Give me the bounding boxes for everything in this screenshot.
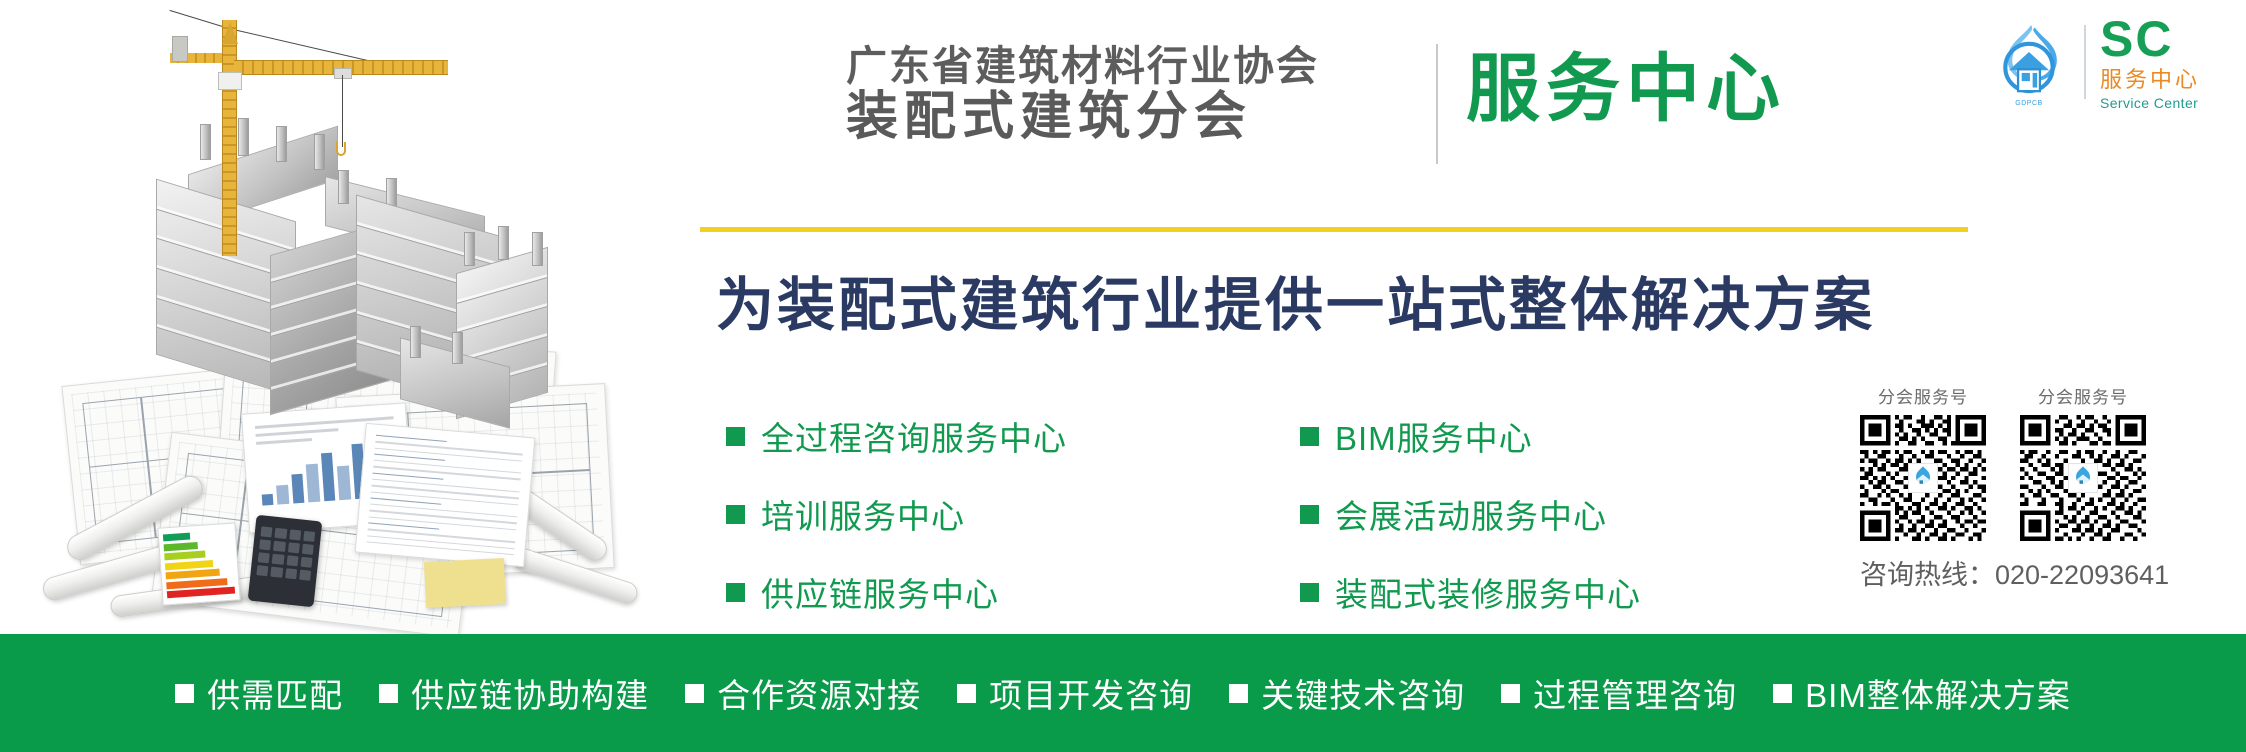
construction-illustration	[0, 0, 660, 634]
list-item[interactable]: 关键技术咨询	[1229, 669, 1465, 717]
service-label: 供应链服务中心	[761, 568, 999, 616]
yellow-divider-rule	[700, 227, 1968, 232]
building-column	[452, 332, 463, 364]
service-list-right: BIM服务中心 会展活动服务中心 装配式装修服务中心	[1300, 412, 1641, 616]
list-item[interactable]: 过程管理咨询	[1501, 669, 1737, 717]
qr-code-image-2[interactable]	[2020, 415, 2146, 541]
association-name: 广东省建筑材料行业协会	[846, 44, 1446, 88]
service-label: 装配式装修服务中心	[1335, 568, 1641, 616]
footer-label: 合作资源对接	[717, 669, 921, 717]
energy-label-chart	[157, 522, 240, 605]
bullet-square-icon	[379, 684, 398, 703]
gdpcb-abbr-label: GDPCB	[1988, 100, 2070, 107]
building-column	[410, 326, 421, 358]
building-column	[532, 232, 543, 266]
sc-service-center-logo[interactable]: GDPCB SC 服务中心 Service Center	[1988, 14, 2200, 110]
list-item[interactable]: 供应链协助构建	[379, 669, 649, 717]
promotional-banner: 广东省建筑材料行业协会 装配式建筑分会 服务中心 为装配式建筑行业提供一站式整体…	[0, 0, 2246, 752]
qr-caption: 分会服务号	[1860, 383, 1986, 408]
list-item[interactable]: BIM整体解决方案	[1773, 669, 2071, 717]
footer-label: 供需匹配	[207, 669, 343, 717]
list-item[interactable]: 装配式装修服务中心	[1300, 568, 1641, 616]
list-item[interactable]: 培训服务中心	[726, 490, 1067, 538]
service-label: BIM服务中心	[1335, 412, 1533, 460]
qr-caption: 分会服务号	[2020, 383, 2146, 408]
logo-english-label: Service Center	[2100, 96, 2200, 110]
logo-divider	[2084, 25, 2086, 99]
list-item[interactable]: 供应链服务中心	[726, 568, 1067, 616]
qr-code-item: 分会服务号	[2020, 383, 2146, 541]
qr-code-image-1[interactable]	[1860, 415, 1986, 541]
footer-capability-bar: 供需匹配 供应链协助构建 合作资源对接 项目开发咨询 关键技术咨询 过程管理咨询…	[0, 634, 2246, 752]
building-column	[498, 226, 509, 260]
association-title-block: 广东省建筑材料行业协会 装配式建筑分会	[846, 44, 1446, 147]
service-label: 全过程咨询服务中心	[761, 412, 1067, 460]
sticky-note	[424, 558, 506, 608]
footer-label: 供应链协助构建	[411, 669, 649, 717]
title-divider	[1436, 44, 1438, 164]
list-item[interactable]: 全过程咨询服务中心	[726, 412, 1067, 460]
bullet-square-icon	[1229, 684, 1248, 703]
list-item[interactable]: 合作资源对接	[685, 669, 921, 717]
bullet-square-icon	[726, 583, 745, 602]
association-branch: 装配式建筑分会	[846, 88, 1446, 146]
list-item[interactable]: BIM服务中心	[1300, 412, 1641, 460]
tower-crane	[150, 6, 480, 256]
page-title: 为装配式建筑行业提供一站式整体解决方案	[716, 258, 1875, 342]
list-item[interactable]: 项目开发咨询	[957, 669, 1193, 717]
service-label: 会展活动服务中心	[1335, 490, 1607, 538]
qr-code-block: 分会服务号	[1860, 383, 2200, 592]
calculator	[248, 515, 323, 607]
bullet-square-icon	[175, 684, 194, 703]
hotline-text: 咨询热线：020-22093641	[1860, 553, 2200, 592]
service-list-left: 全过程咨询服务中心 培训服务中心 供应链服务中心	[726, 412, 1067, 616]
bullet-square-icon	[1300, 505, 1319, 524]
bullet-square-icon	[1501, 684, 1520, 703]
bullet-square-icon	[957, 684, 976, 703]
bullet-square-icon	[1773, 684, 1792, 703]
logo-chinese-label: 服务中心	[2100, 69, 2200, 91]
list-item[interactable]: 供需匹配	[175, 669, 343, 717]
footer-label: BIM整体解决方案	[1805, 669, 2071, 717]
qr-center-logo-icon	[2068, 463, 2098, 493]
service-label: 培训服务中心	[761, 490, 965, 538]
qr-code-item: 分会服务号	[1860, 383, 1986, 541]
footer-label: 项目开发咨询	[989, 669, 1193, 717]
footer-label: 关键技术咨询	[1261, 669, 1465, 717]
bullet-square-icon	[1300, 427, 1319, 446]
bullet-square-icon	[685, 684, 704, 703]
list-item[interactable]: 会展活动服务中心	[1300, 490, 1641, 538]
service-center-title: 服务中心	[1466, 46, 1786, 131]
logo-abbr: SC	[2100, 14, 2200, 64]
footer-label: 过程管理咨询	[1533, 669, 1737, 717]
qr-center-logo-icon	[1908, 463, 1938, 493]
gdpcb-flame-house-icon: GDPCB	[1988, 20, 2070, 104]
bullet-square-icon	[726, 427, 745, 446]
bullet-square-icon	[1300, 583, 1319, 602]
bullet-square-icon	[726, 505, 745, 524]
